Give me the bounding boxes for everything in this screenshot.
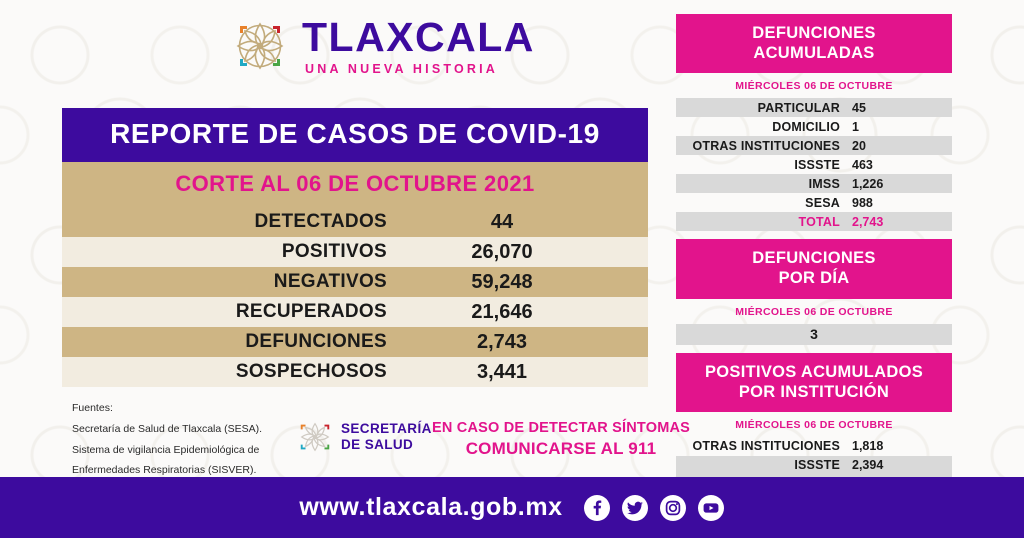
sources-block: Fuentes: Secretaría de Salud de Tlaxcala… [72,398,322,481]
table-row: POSITIVOS 26,070 [62,237,648,267]
right-panels: DEFUNCIONES ACUMULADAS MIÉRCOLES 06 DE O… [676,14,952,532]
stat-label: NEGATIVOS [62,271,407,293]
row-value: 463 [852,158,952,172]
row-label: TOTAL [676,215,852,229]
deaths-accumulated-header: DEFUNCIONES ACUMULADAS [676,14,952,73]
deaths-accumulated-title-2: ACUMULADAS [680,43,948,63]
table-row: DEFUNCIONES 2,743 [62,327,648,357]
table-row: NEGATIVOS 59,248 [62,267,648,297]
positives-by-institution-header: POSITIVOS ACUMULADOS POR INSTITUCIÓN [676,353,952,412]
deaths-per-day-date: MIÉRCOLES 06 DE OCTUBRE [676,299,952,324]
youtube-icon[interactable] [697,494,725,522]
deaths-accumulated-date: MIÉRCOLES 06 DE OCTUBRE [676,73,952,98]
table-row: PARTICULAR 45 [676,98,952,117]
table-row: DETECTADOS 44 [62,207,648,237]
sources-heading: Fuentes: [72,398,322,418]
social-links [583,494,725,522]
facebook-icon[interactable] [583,494,611,522]
deaths-per-day-title-2: POR DÍA [680,268,948,288]
row-value: 1 [852,120,952,134]
table-row: IMSS 1,226 [676,174,952,193]
instagram-icon[interactable] [659,494,687,522]
row-value: 2,394 [852,458,952,472]
sources-line-1: Secretaría de Salud de Tlaxcala (SESA). [72,419,322,439]
stat-value: 26,070 [407,241,597,264]
website-url[interactable]: www.tlaxcala.gob.mx [299,493,562,522]
stat-value: 3,441 [407,361,597,384]
tlaxcala-brand-header: TLAXCALA UNA NUEVA HISTORIA [228,14,535,78]
table-row: ISSSTE 463 [676,155,952,174]
twitter-icon[interactable] [621,494,649,522]
table-row: RECUPERADOS 21,646 [62,297,648,327]
page-title: REPORTE DE CASOS DE COVID-19 [62,108,648,162]
row-label: DOMICILIO [676,120,852,134]
stat-label: POSITIVOS [62,241,407,263]
row-value: 20 [852,139,952,153]
deaths-accumulated-title-1: DEFUNCIONES [680,23,948,43]
brand-title: TLAXCALA [302,17,535,58]
emergency-notice: EN CASO DE DETECTAR SÍNTOMAS COMUNICARSE… [432,420,690,459]
row-label: OTRAS INSTITUCIONES [676,439,852,453]
stat-label: DETECTADOS [62,211,407,233]
main-report-panel: REPORTE DE CASOS DE COVID-19 CORTE AL 06… [62,108,648,387]
table-row-total: TOTAL 2,743 [676,212,952,231]
row-label: OTRAS INSTITUCIONES [676,139,852,153]
main-stats-table: DETECTADOS 44 POSITIVOS 26,070 NEGATIVOS… [62,207,648,387]
salud-line-1: SECRETARÍA [341,421,432,437]
row-value: 1,226 [852,177,952,191]
table-row: SOSPECHOSOS 3,441 [62,357,648,387]
deaths-per-day-title-1: DEFUNCIONES [680,248,948,268]
report-cutoff-date: CORTE AL 06 DE OCTUBRE 2021 [62,162,648,207]
infographic-canvas: TLAXCALA UNA NUEVA HISTORIA REPORTE DE C… [0,0,1024,538]
deaths-per-day-value: 3 [676,324,952,345]
emergency-line-1: EN CASO DE DETECTAR SÍNTOMAS [432,420,690,436]
tlaxcala-flower-icon [228,14,292,78]
stat-label: RECUPERADOS [62,301,407,323]
table-row: SESA 988 [676,193,952,212]
secretaria-salud-logo: SECRETARÍA DE SALUD [296,418,432,456]
row-label: SESA [676,196,852,210]
emergency-line-2: COMUNICARSE AL 911 [432,439,690,459]
deaths-accumulated-table: PARTICULAR 45 DOMICILIO 1 OTRAS INSTITUC… [676,98,952,231]
sources-line-2: Sistema de vigilancia Epidemiológica de [72,440,322,460]
table-row: DOMICILIO 1 [676,117,952,136]
footer-bar: www.tlaxcala.gob.mx [0,477,1024,538]
positives-title-2: POR INSTITUCIÓN [680,382,948,402]
row-label: ISSSTE [676,458,852,472]
stat-label: SOSPECHOSOS [62,361,407,383]
stat-value: 44 [407,211,597,234]
table-row: OTRAS INSTITUCIONES 20 [676,136,952,155]
row-value: 2,743 [852,215,952,229]
stat-label: DEFUNCIONES [62,331,407,353]
positives-title-1: POSITIVOS ACUMULADOS [680,362,948,382]
stat-value: 59,248 [407,271,597,294]
stat-value: 2,743 [407,331,597,354]
row-value: 988 [852,196,952,210]
deaths-per-day-header: DEFUNCIONES POR DÍA [676,239,952,298]
table-row: OTRAS INSTITUCIONES 1,818 [676,437,952,456]
row-label: IMSS [676,177,852,191]
row-value: 45 [852,101,952,115]
brand-subtitle: UNA NUEVA HISTORIA [302,63,535,76]
row-label: ISSSTE [676,158,852,172]
salud-line-2: DE SALUD [341,437,432,453]
table-row: ISSSTE 2,394 [676,456,952,475]
stat-value: 21,646 [407,301,597,324]
row-value: 1,818 [852,439,952,453]
row-label: PARTICULAR [676,101,852,115]
positives-date: MIÉRCOLES 06 DE OCTUBRE [676,412,952,437]
secretaria-salud-flower-icon [296,418,334,456]
